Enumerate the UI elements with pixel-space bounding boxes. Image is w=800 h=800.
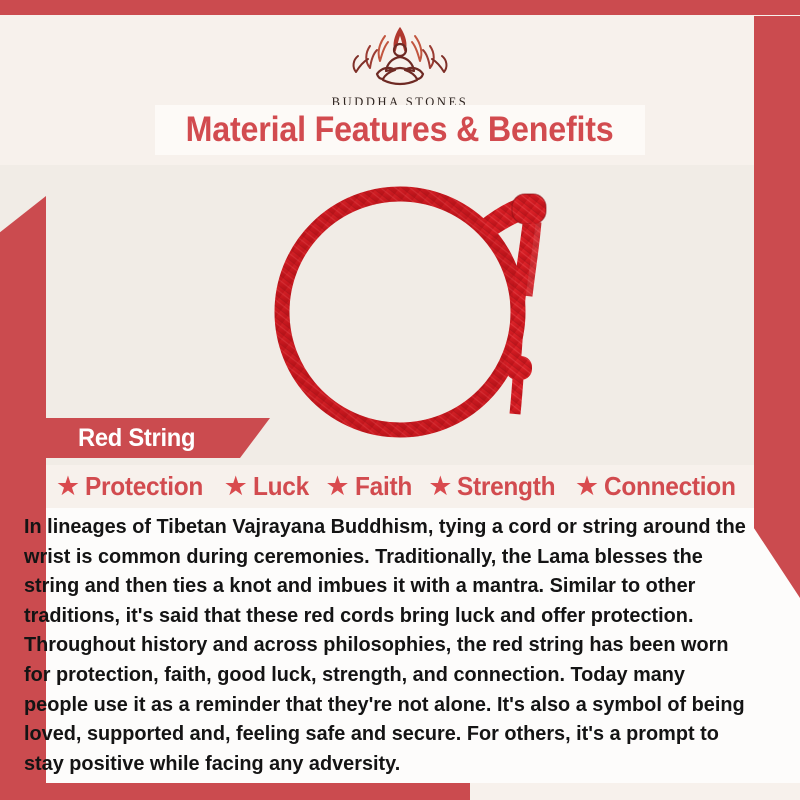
benefit-item: ★ Luck bbox=[224, 471, 313, 502]
page-title: Material Features & Benefits bbox=[186, 110, 614, 150]
infographic-canvas: BUDDHA STONES Material Features & Benefi… bbox=[0, 0, 800, 800]
description-text: In lineages of Tibetan Vajrayana Buddhis… bbox=[24, 512, 754, 778]
product-image-red-string-bracelet bbox=[250, 160, 580, 440]
benefit-item: ★ Connection bbox=[575, 471, 744, 502]
decor-bottom-bar bbox=[0, 783, 470, 800]
star-icon: ★ bbox=[224, 473, 248, 500]
benefit-item: ★ Protection bbox=[56, 471, 211, 502]
star-icon: ★ bbox=[428, 473, 452, 500]
lotus-meditation-logo-icon bbox=[325, 20, 475, 90]
benefit-item: ★ Strength bbox=[428, 471, 562, 502]
benefit-label: Faith bbox=[355, 471, 412, 502]
benefit-label: Connection bbox=[604, 471, 736, 502]
decor-top-bar bbox=[0, 0, 800, 15]
benefits-row: ★ Protection ★ Luck ★ Faith ★ Strength ★… bbox=[0, 466, 800, 506]
product-name-label: Red String bbox=[78, 424, 195, 453]
product-name-ribbon: Red String bbox=[20, 418, 270, 458]
star-icon: ★ bbox=[325, 473, 349, 500]
star-icon: ★ bbox=[575, 473, 599, 500]
benefit-item: ★ Faith bbox=[325, 471, 415, 502]
benefit-label: Luck bbox=[253, 471, 309, 502]
star-icon: ★ bbox=[56, 473, 80, 500]
benefit-label: Strength bbox=[457, 471, 555, 502]
title-banner: Material Features & Benefits bbox=[155, 105, 645, 155]
brand-logo: BUDDHA STONES bbox=[0, 20, 800, 110]
benefit-label: Protection bbox=[85, 471, 203, 502]
